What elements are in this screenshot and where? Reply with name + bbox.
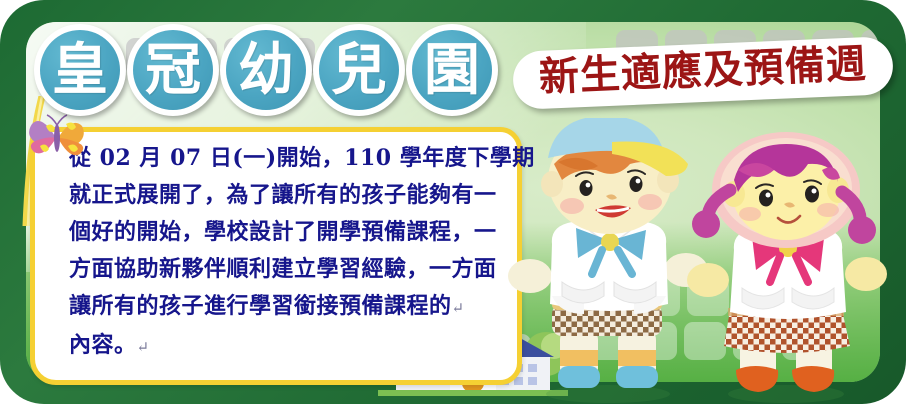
poster-root: 皇 冠 幼 兒 園 新生適應及預備週 從 02 月 07 日(一)開始，110 … (0, 0, 906, 404)
butterfly-icon (26, 112, 88, 164)
kindergarten-title: 皇 冠 幼 兒 園 (34, 24, 498, 116)
announcement-panel: 從 02 月 07 日(一)開始，110 學年度下學期 就正式展開了，為了讓所有… (30, 127, 522, 385)
body-line: 方面協助新夥伴順利建立學習經驗，一方面 (69, 251, 509, 288)
body-line-with-mark: 內容。↵ (69, 327, 509, 366)
boy-doll-figure (500, 118, 710, 404)
event-banner-label: 新生適應及預備週 (538, 44, 867, 98)
body-line: 從 02 月 07 日(一)開始，110 學年度下學期 (69, 140, 509, 177)
body-line: 內容。 (69, 332, 137, 358)
title-char-circle: 皇 (34, 24, 126, 116)
title-char: 兒 (319, 30, 399, 110)
announcement-body: 從 02 月 07 日(一)開始，110 學年度下學期 就正式展開了，為了讓所有… (69, 140, 509, 366)
body-line-with-mark: 讓所有的孩子進行學習銜接預備課程的↵ (69, 288, 509, 327)
paragraph-mark: ↵ (452, 299, 465, 317)
title-char: 幼 (226, 30, 306, 110)
title-char-circle: 幼 (220, 24, 312, 116)
body-line: 讓所有的孩子進行學習銜接預備課程的 (69, 293, 452, 319)
title-char: 園 (412, 30, 492, 110)
title-char: 皇 (40, 30, 120, 110)
paragraph-mark: ↵ (137, 338, 150, 356)
title-char-circle: 園 (406, 24, 498, 116)
girl-doll-figure (682, 130, 892, 404)
title-char-circle: 冠 (127, 24, 219, 116)
body-line: 個好的開始，學校設計了開學預備課程，一 (69, 214, 509, 251)
body-line: 就正式展開了，為了讓所有的孩子能夠有一 (69, 177, 509, 214)
title-char-circle: 兒 (313, 24, 405, 116)
title-char: 冠 (133, 30, 213, 110)
